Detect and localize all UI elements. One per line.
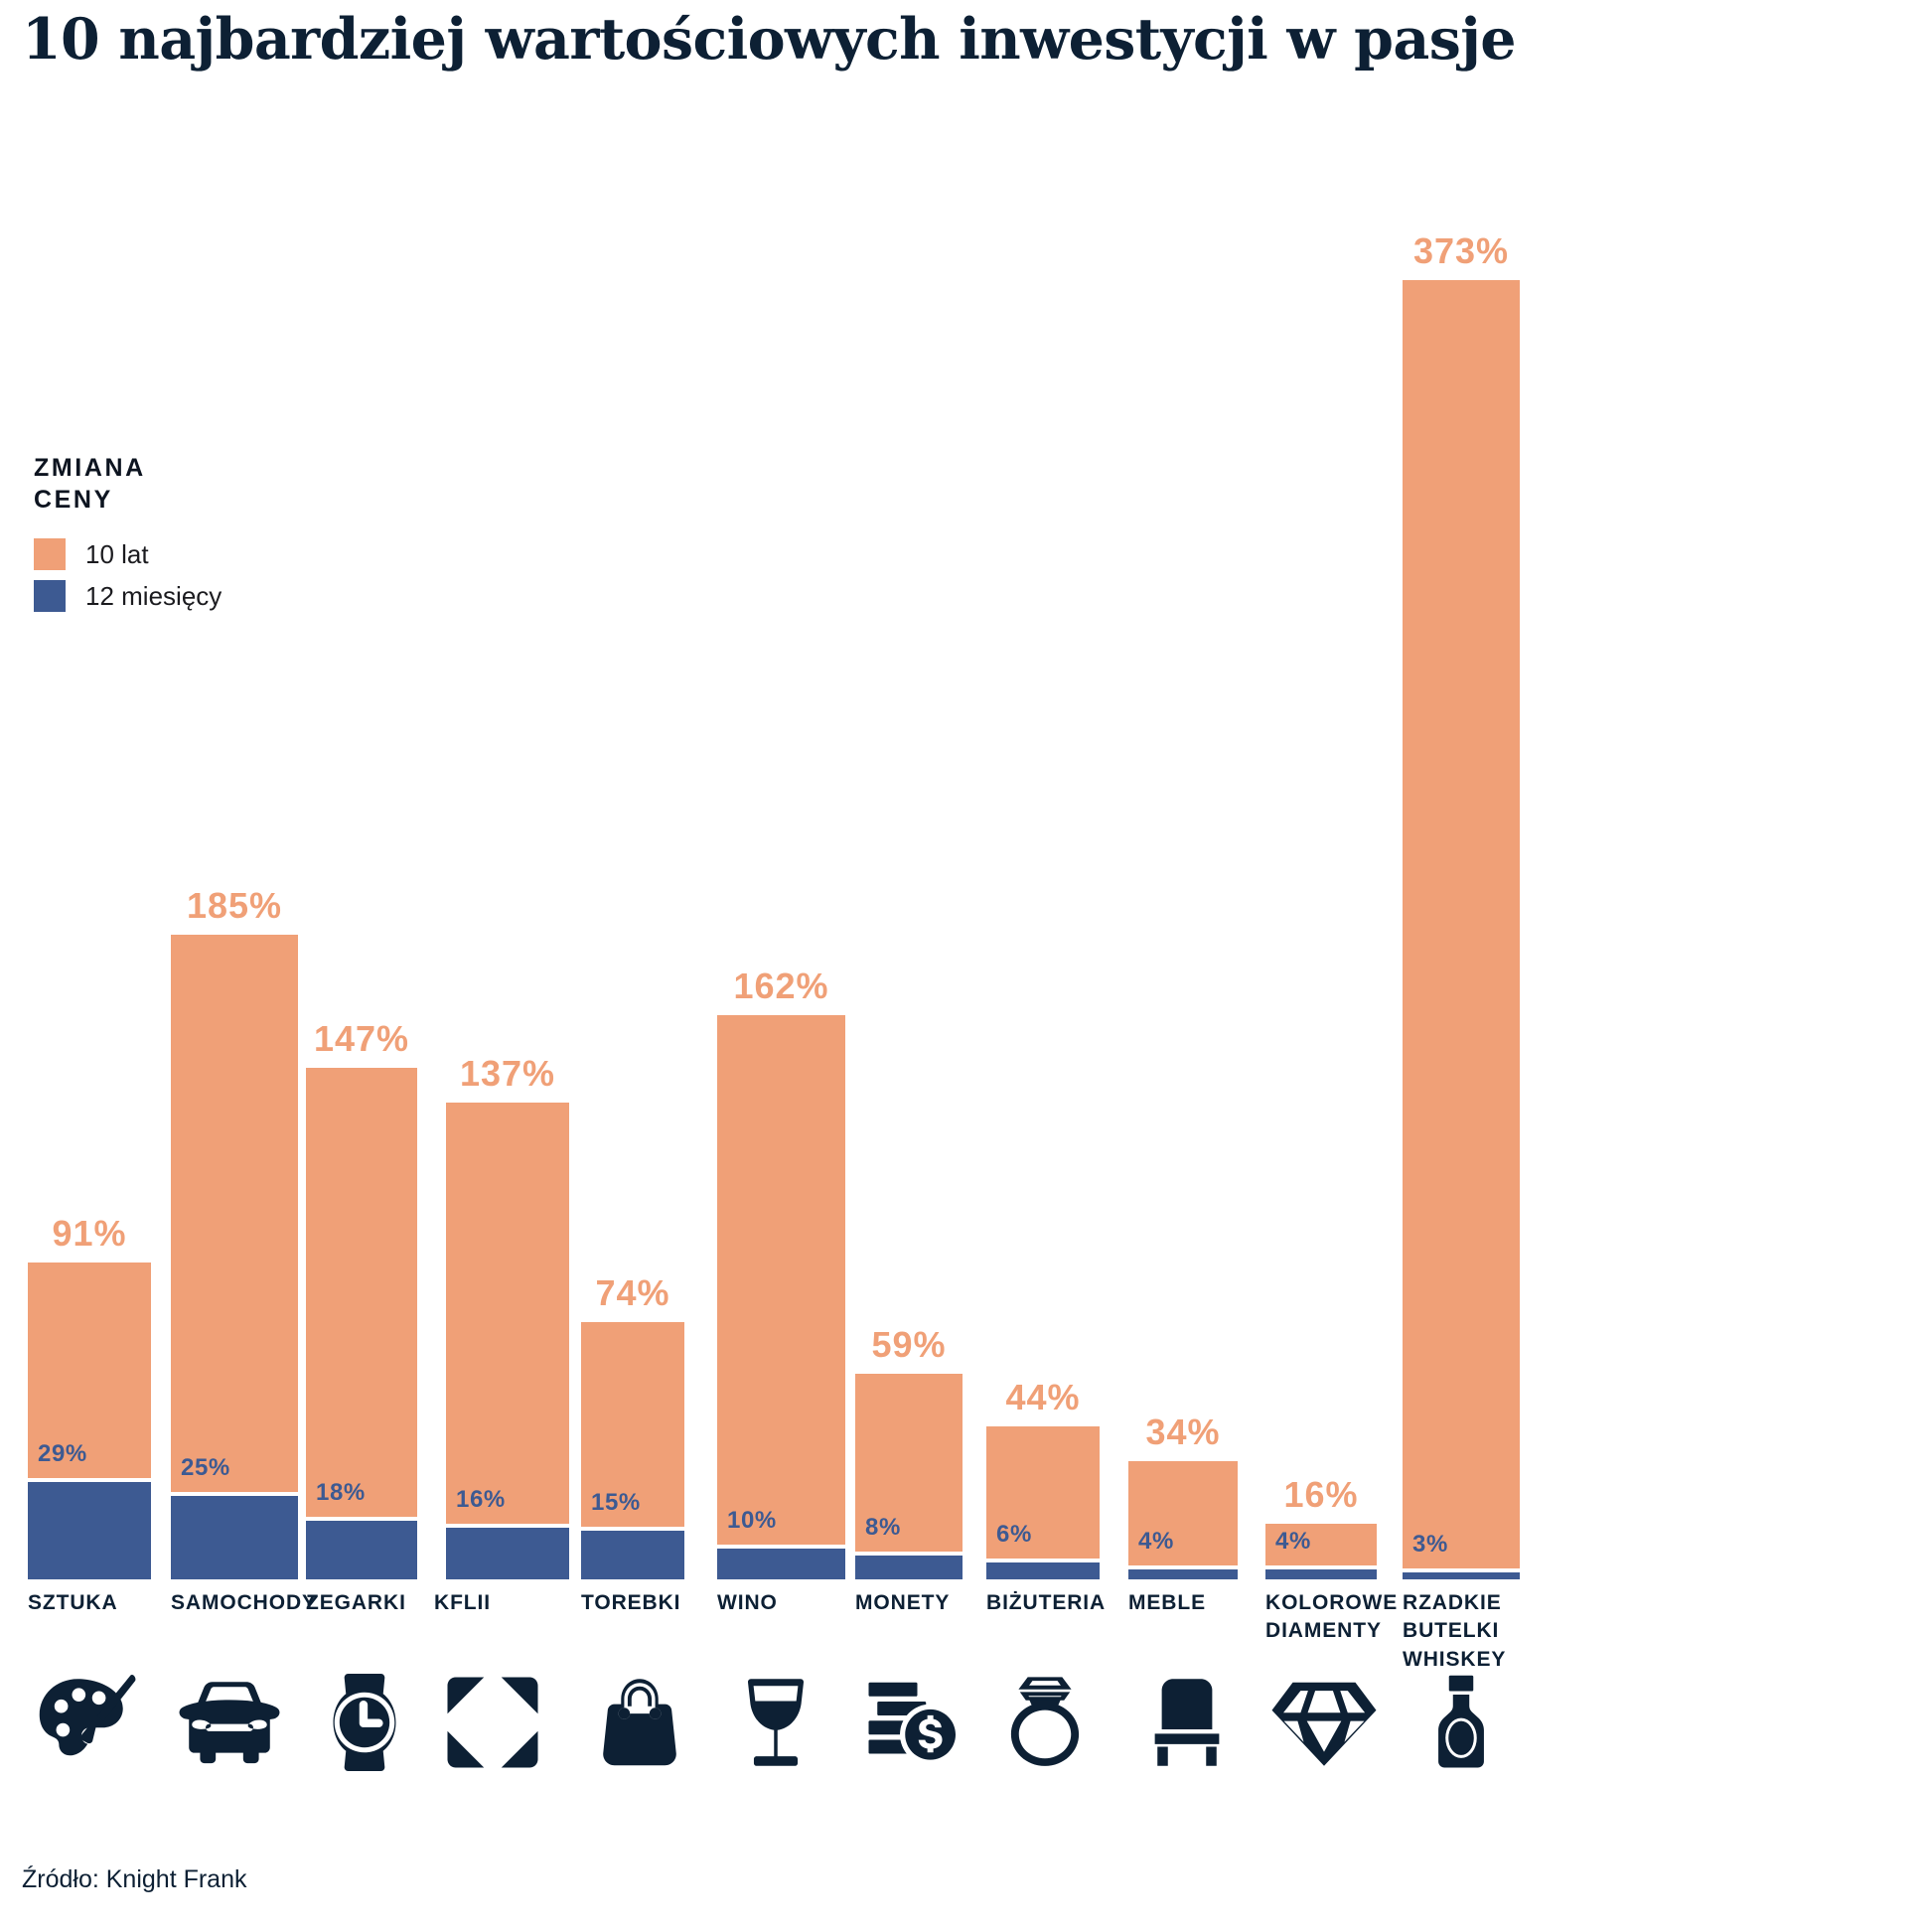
watch-icon [306, 1667, 423, 1778]
bar-stack [855, 1374, 963, 1579]
bar-group[interactable]: 16%4% [1265, 228, 1377, 1579]
bar-group[interactable]: 44%6% [986, 228, 1100, 1579]
bar-stack [1403, 280, 1520, 1579]
bar-segment-twelve-months[interactable] [1403, 1568, 1520, 1579]
bar-group[interactable]: 91%29% [28, 228, 151, 1579]
bar-group[interactable]: 373%3% [1403, 228, 1520, 1579]
chair-icon [1128, 1667, 1246, 1778]
bar-value-label-ten-years: 44% [986, 1377, 1100, 1418]
wine-glass-icon [717, 1667, 834, 1778]
category-11[interactable]: RZADKIE BUTELKI WHISKEY [1403, 1589, 1575, 1674]
bar-value-label-ten-years: 74% [581, 1272, 684, 1314]
bar-value-label-twelve-months: 3% [1412, 1531, 1448, 1559]
category-axis: SZTUKASAMOCHODYZEGARKIKFLIITOREBKIWINOMO… [0, 1589, 1927, 1709]
bar-segment-ten-years[interactable] [1403, 280, 1520, 1579]
bar-value-label-twelve-months: 15% [591, 1489, 641, 1517]
bar-value-label-ten-years: 147% [306, 1018, 417, 1060]
bar-value-label-ten-years: 185% [171, 885, 298, 927]
bar-segment-twelve-months[interactable] [855, 1552, 963, 1579]
bar-stack [986, 1426, 1100, 1579]
chart-page: 10 najbardziej wartościowych inwestycji … [0, 0, 1927, 1932]
bar-stack [171, 935, 298, 1579]
bar-value-label-twelve-months: 16% [456, 1486, 506, 1514]
whiskey-bottle-icon [1403, 1667, 1520, 1778]
source-note: Źródło: Knight Frank [22, 1865, 247, 1894]
bar-segment-twelve-months[interactable] [717, 1545, 845, 1579]
bar-segment-twelve-months[interactable] [171, 1492, 298, 1579]
bar-stack [1128, 1461, 1238, 1579]
bar-value-label-ten-years: 162% [717, 966, 845, 1007]
bar-value-label-twelve-months: 4% [1275, 1528, 1311, 1556]
bar-value-label-twelve-months: 18% [316, 1479, 366, 1507]
bar-segment-twelve-months[interactable] [28, 1478, 151, 1579]
ring-icon [986, 1667, 1104, 1778]
bar-value-label-ten-years: 373% [1403, 230, 1520, 272]
bar-group[interactable]: 137%16% [446, 228, 569, 1579]
bar-value-label-ten-years: 137% [446, 1053, 569, 1095]
bar-segment-twelve-months[interactable] [1128, 1565, 1238, 1579]
palette-icon [28, 1667, 145, 1778]
coins-icon [855, 1667, 972, 1778]
bar-value-label-ten-years: 34% [1128, 1412, 1238, 1453]
bar-group[interactable]: 74%15% [581, 228, 684, 1579]
bar-segment-twelve-months[interactable] [986, 1559, 1100, 1579]
chart-plot-area: 91%29%185%25%147%18%137%16%74%15%162%10%… [0, 228, 1927, 1579]
bar-segment-ten-years[interactable] [171, 935, 298, 1579]
bar-value-label-ten-years: 16% [1265, 1474, 1377, 1516]
bar-group[interactable]: 162%10% [717, 228, 845, 1579]
bar-segment-ten-years[interactable] [986, 1426, 1100, 1579]
bar-value-label-twelve-months: 8% [865, 1514, 901, 1542]
bar-group[interactable]: 34%4% [1128, 228, 1238, 1579]
bar-stack [581, 1322, 684, 1579]
bar-segment-ten-years[interactable] [717, 1015, 845, 1579]
car-icon [171, 1667, 288, 1778]
bar-stack [717, 1015, 845, 1579]
bar-group[interactable]: 59%8% [855, 228, 963, 1579]
bar-value-label-twelve-months: 4% [1138, 1528, 1174, 1556]
bar-segment-ten-years[interactable] [855, 1374, 963, 1579]
bar-value-label-ten-years: 59% [855, 1324, 963, 1366]
bar-segment-twelve-months[interactable] [581, 1527, 684, 1579]
bar-value-label-twelve-months: 6% [996, 1521, 1032, 1549]
gem-icon [1265, 1667, 1383, 1778]
page-title: 10 najbardziej wartościowych inwestycji … [22, 6, 1810, 73]
bar-value-label-twelve-months: 10% [727, 1507, 777, 1535]
bar-segment-twelve-months[interactable] [1265, 1565, 1377, 1579]
bar-group[interactable]: 147%18% [306, 228, 417, 1579]
bar-value-label-ten-years: 91% [28, 1213, 151, 1255]
bar-value-label-twelve-months: 25% [181, 1454, 230, 1482]
diamond-star-icon [434, 1667, 551, 1778]
bar-stack [28, 1263, 151, 1579]
bar-segment-twelve-months[interactable] [446, 1524, 569, 1579]
handbag-icon [581, 1667, 698, 1778]
bar-segment-ten-years[interactable] [1128, 1461, 1238, 1579]
category-label: RZADKIE BUTELKI WHISKEY [1403, 1589, 1575, 1674]
bar-group[interactable]: 185%25% [171, 228, 298, 1579]
bar-segment-twelve-months[interactable] [306, 1517, 417, 1579]
bar-value-label-twelve-months: 29% [38, 1440, 87, 1468]
